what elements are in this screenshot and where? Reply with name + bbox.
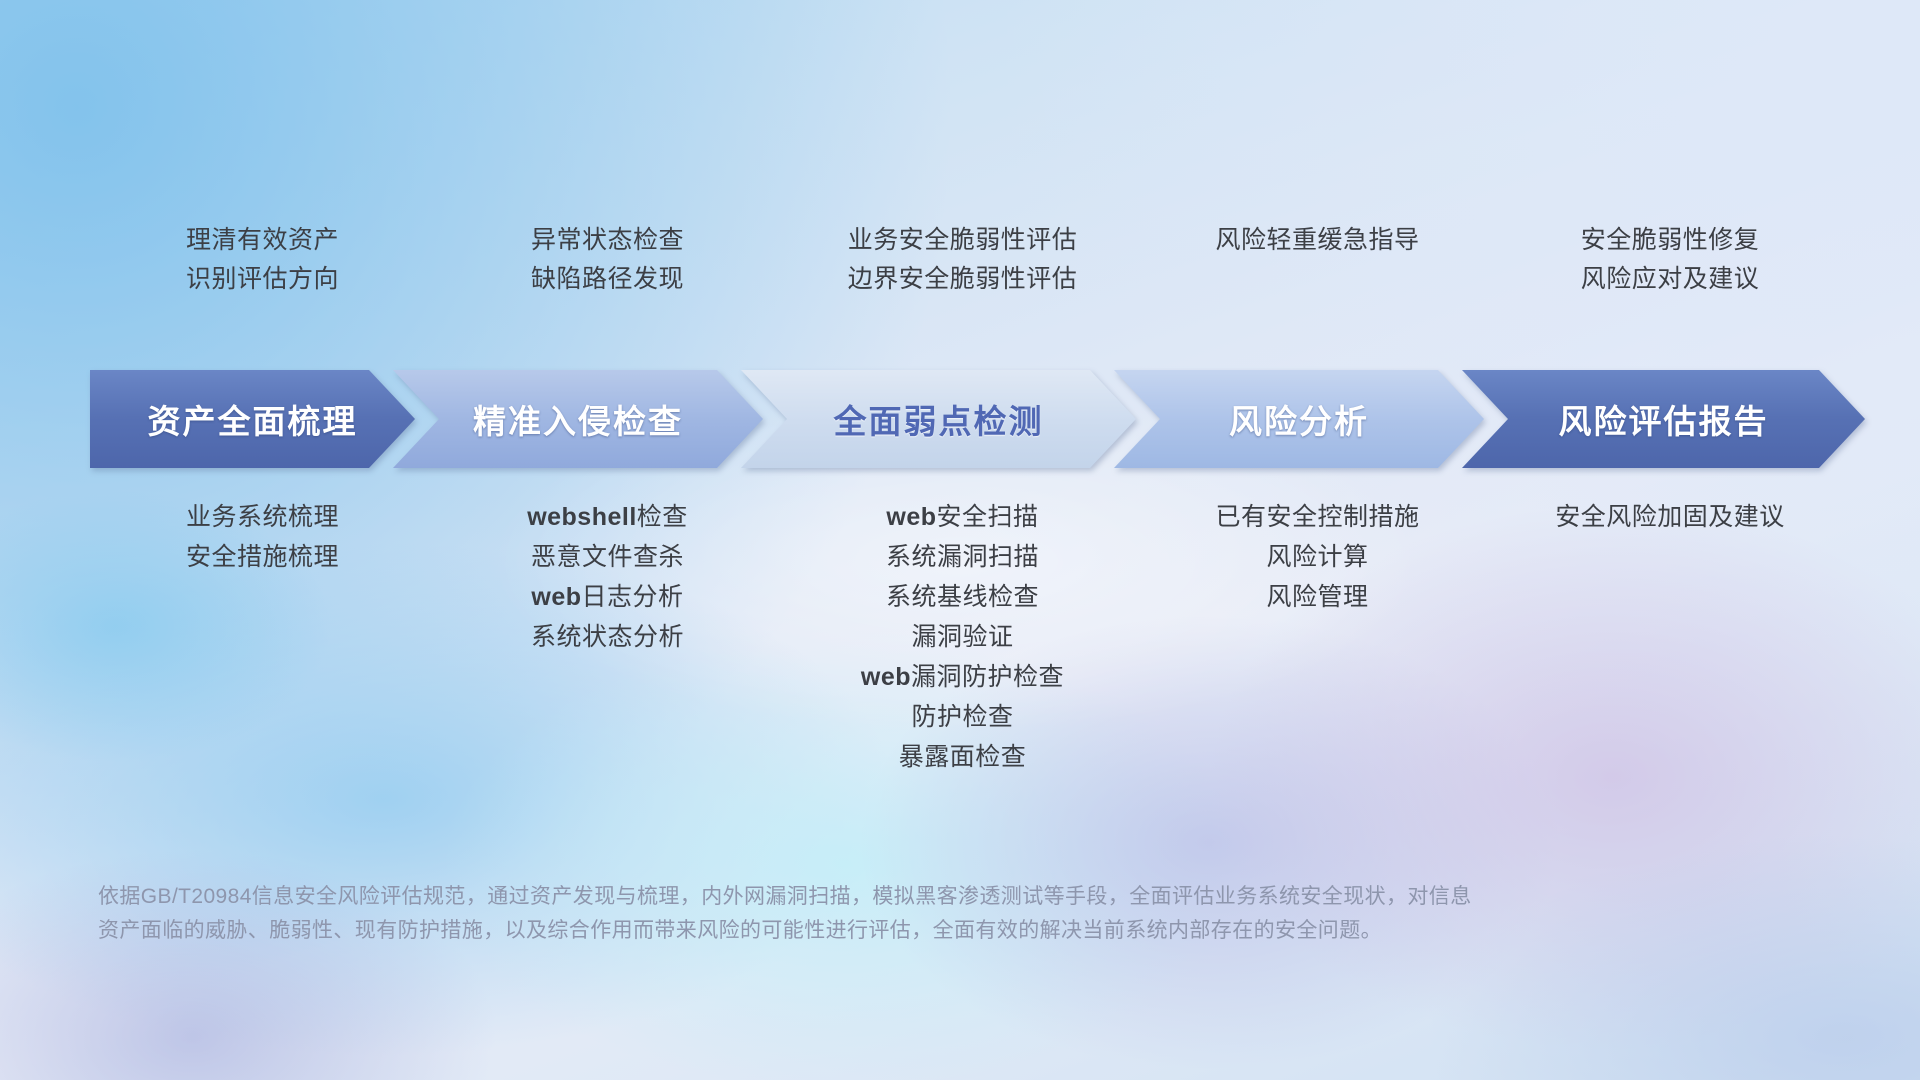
chevron-stage-2-label: 精准入侵检查 [393, 395, 763, 443]
list-item: 风险计算 [1266, 545, 1368, 570]
stage-1-top-labels: 理清有效资产 识别评估方向 [90, 228, 435, 328]
chevron-stage-3-label: 全面弱点检测 [741, 395, 1136, 443]
footer-line-1: 依据GB/T20984信息安全风险评估规范，通过资产发现与梳理，内外网漏洞扫描，… [98, 880, 1618, 914]
chevron-stage-5-label: 风险评估报告 [1462, 395, 1865, 443]
list-item: 业务系统梳理 [186, 505, 339, 530]
chevron-stage-1[interactable]: 资产全面梳理 [90, 370, 415, 468]
stage-4-bottom-list: 已有安全控制措施 风险计算 风险管理 [1145, 505, 1490, 770]
list-item: 漏洞验证 [911, 625, 1013, 650]
chevron-stage-2[interactable]: 精准入侵检查 [393, 370, 763, 468]
stage-1-bottom-list: 业务系统梳理 安全措施梳理 [90, 505, 435, 770]
list-item: 系统基线检查 [886, 585, 1039, 610]
chevron-stage-4-label: 风险分析 [1114, 395, 1484, 443]
stage-5-top-labels: 安全脆弱性修复 风险应对及建议 [1490, 228, 1850, 328]
stage-1-top-item: 理清有效资产 [186, 228, 339, 253]
list-item: web漏洞防护检查 [861, 665, 1064, 690]
list-item: 恶意文件查杀 [531, 545, 684, 570]
stage-3-top-labels: 业务安全脆弱性评估 边界安全脆弱性评估 [780, 228, 1145, 328]
footer-description: 依据GB/T20984信息安全风险评估规范，通过资产发现与梳理，内外网漏洞扫描，… [98, 880, 1618, 948]
stage-5-top-item: 风险应对及建议 [1581, 267, 1760, 292]
stage-top-labels-row: 理清有效资产 识别评估方向 异常状态检查 缺陷路径发现 业务安全脆弱性评估 边界… [90, 228, 1850, 328]
list-item: web安全扫描 [886, 505, 1038, 530]
stage-4-top-item: 风险轻重缓急指导 [1215, 228, 1419, 253]
chevron-stage-4[interactable]: 风险分析 [1114, 370, 1484, 468]
stage-5-top-item: 安全脆弱性修复 [1581, 228, 1760, 253]
list-item: 风险管理 [1266, 585, 1368, 610]
list-item: 防护检查 [911, 705, 1013, 730]
stage-2-bottom-list: webshell检查 恶意文件查杀 web日志分析 系统状态分析 [435, 505, 780, 770]
stage-3-bottom-list: web安全扫描 系统漏洞扫描 系统基线检查 漏洞验证 web漏洞防护检查 防护检… [780, 505, 1145, 770]
chevron-stage-3[interactable]: 全面弱点检测 [741, 370, 1136, 468]
list-item: 暴露面检查 [899, 745, 1027, 770]
list-item: 系统漏洞扫描 [886, 545, 1039, 570]
stage-5-bottom-list: 安全风险加固及建议 [1490, 505, 1850, 770]
list-item: web日志分析 [531, 585, 683, 610]
stage-3-top-item: 业务安全脆弱性评估 [848, 228, 1078, 253]
footer-line-2: 资产面临的威胁、脆弱性、现有防护措施，以及综合作用而带来风险的可能性进行评估，全… [98, 914, 1618, 948]
list-item: 安全风险加固及建议 [1555, 505, 1785, 530]
list-item: webshell检查 [527, 505, 688, 530]
stage-4-top-labels: 风险轻重缓急指导 [1145, 228, 1490, 328]
chevron-stage-1-label: 资产全面梳理 [90, 395, 415, 443]
process-chevron-band: 资产全面梳理 精准入侵检查 全面弱点检测 风险分析 风险评估报告 [90, 370, 1865, 468]
list-item: 已有安全控制措施 [1215, 505, 1419, 530]
stage-2-top-item: 缺陷路径发现 [531, 267, 684, 292]
stage-2-top-item: 异常状态检查 [531, 228, 684, 253]
chevron-stage-5[interactable]: 风险评估报告 [1462, 370, 1865, 468]
list-item: 安全措施梳理 [186, 545, 339, 570]
stage-bottom-lists-row: 业务系统梳理 安全措施梳理 webshell检查 恶意文件查杀 web日志分析 … [90, 505, 1850, 770]
stage-2-top-labels: 异常状态检查 缺陷路径发现 [435, 228, 780, 328]
stage-3-top-item: 边界安全脆弱性评估 [848, 267, 1078, 292]
list-item: 系统状态分析 [531, 625, 684, 650]
stage-1-top-item: 识别评估方向 [186, 267, 339, 292]
